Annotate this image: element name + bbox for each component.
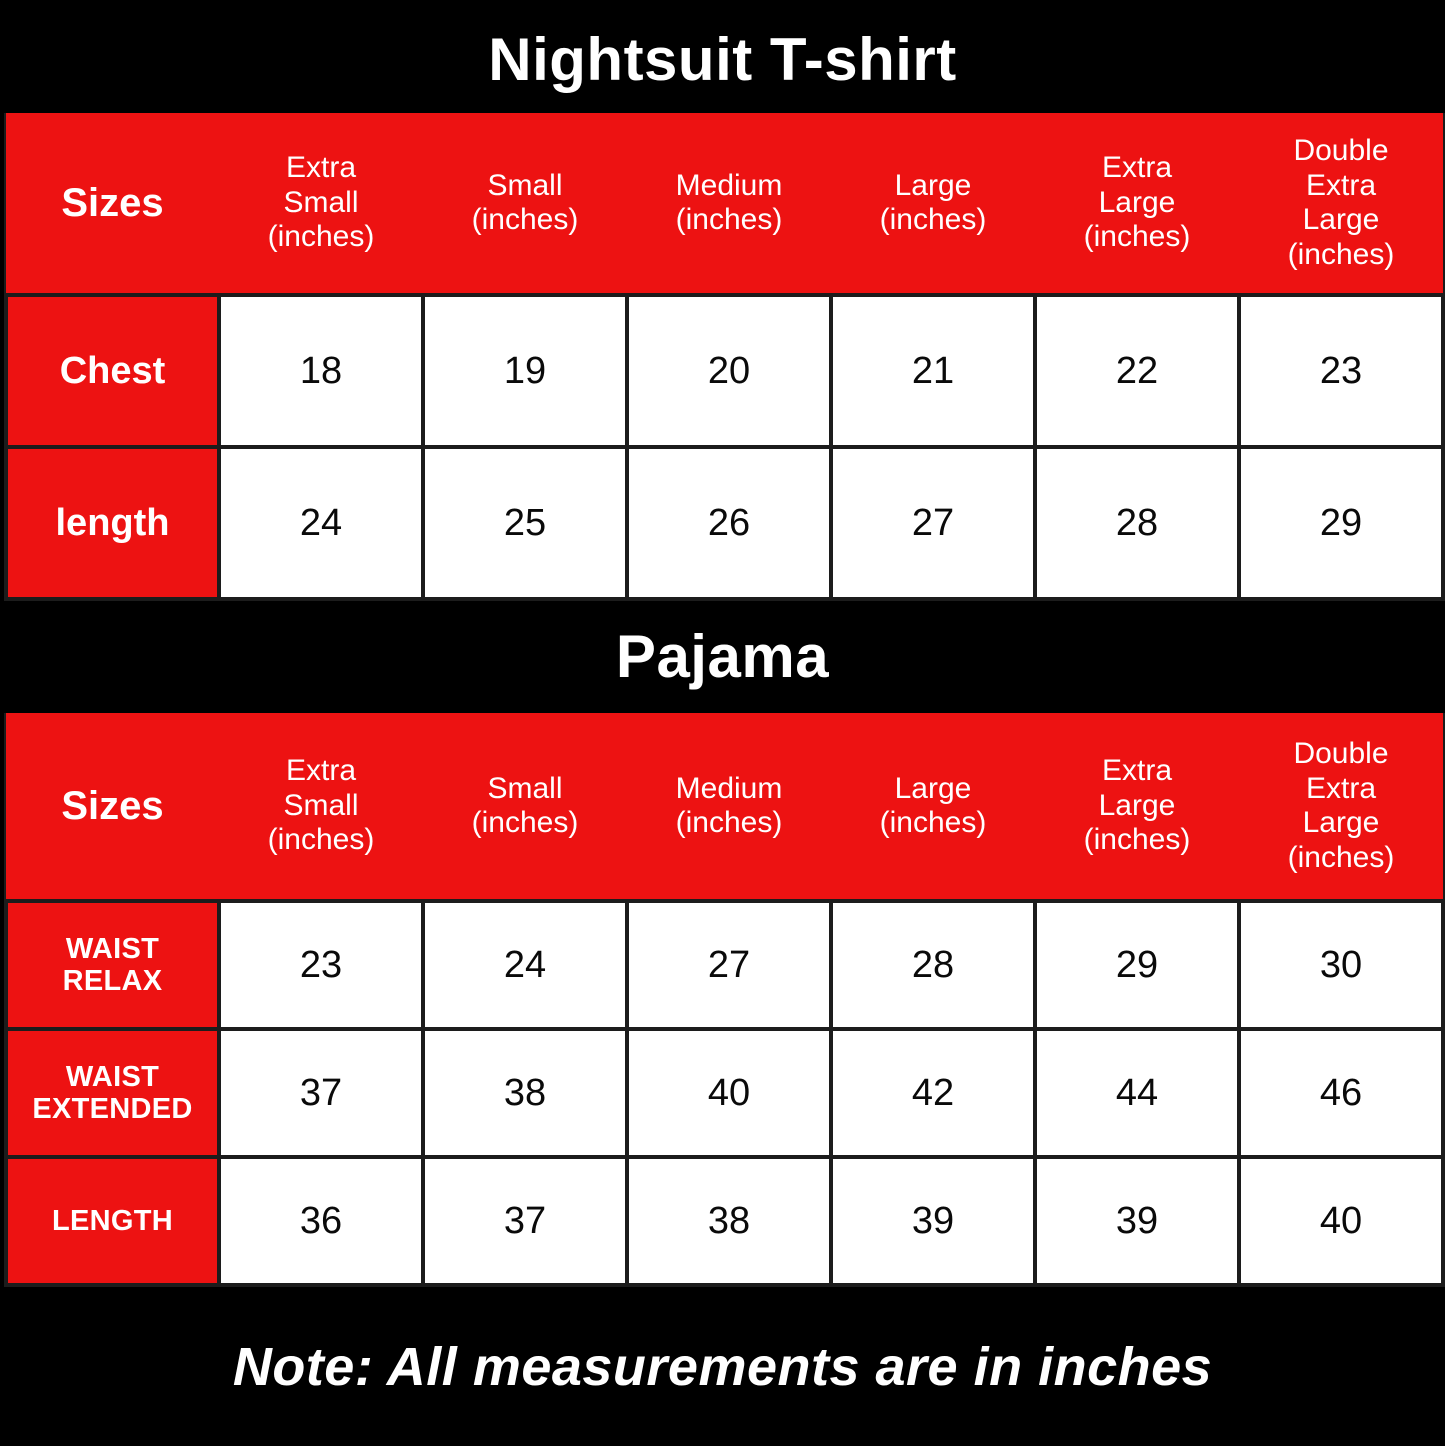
cell-waist-relax-s: 24 [423,901,627,1029]
cell-chest-xs: 18 [219,295,423,447]
cell-length-xs: 36 [219,1157,423,1285]
cell-length-l: 27 [831,447,1035,599]
row-label-length: length [6,447,219,599]
table-header-row: Sizes ExtraSmall(inches) Small(inches) M… [6,113,1443,295]
nightsuit-tshirt-size-table: Sizes ExtraSmall(inches) Small(inches) M… [4,113,1445,601]
cell-length-s: 37 [423,1157,627,1285]
cell-length-xl: 28 [1035,447,1239,599]
table-row: length 24 25 26 27 28 29 [6,447,1443,599]
header-small: Small(inches) [423,713,627,901]
size-chart-page: Nightsuit T-shirt Sizes ExtraSmall(inche… [0,0,1445,1446]
cell-chest-xl: 22 [1035,295,1239,447]
cell-chest-s: 19 [423,295,627,447]
header-extra-small: ExtraSmall(inches) [219,713,423,901]
pajama-size-table: Sizes ExtraSmall(inches) Small(inches) M… [4,713,1445,1287]
cell-waist-relax-xxl: 30 [1239,901,1443,1029]
cell-chest-l: 21 [831,295,1035,447]
header-double-extra-large: DoubleExtraLarge(inches) [1239,113,1443,295]
cell-length-l: 39 [831,1157,1035,1285]
cell-waist-relax-xs: 23 [219,901,423,1029]
cell-waist-extended-s: 38 [423,1029,627,1157]
nightsuit-tshirt-table-wrap: Sizes ExtraSmall(inches) Small(inches) M… [0,113,1445,601]
cell-chest-m: 20 [627,295,831,447]
row-label-waist-relax: WAISTRELAX [6,901,219,1029]
table-row: WAISTRELAX 23 24 27 28 29 30 [6,901,1443,1029]
pajama-table-wrap: Sizes ExtraSmall(inches) Small(inches) M… [0,713,1445,1287]
header-double-extra-large: DoubleExtraLarge(inches) [1239,713,1443,901]
header-sizes-label: Sizes [6,713,219,901]
cell-waist-relax-m: 27 [627,901,831,1029]
cell-length-xs: 24 [219,447,423,599]
header-large: Large(inches) [831,713,1035,901]
table-row: WAISTEXTENDED 37 38 40 42 44 46 [6,1029,1443,1157]
header-small: Small(inches) [423,113,627,295]
section-title-nightsuit-tshirt: Nightsuit T-shirt [0,0,1445,113]
cell-waist-extended-xxl: 46 [1239,1029,1443,1157]
header-sizes-label: Sizes [6,113,219,295]
table-row: Chest 18 19 20 21 22 23 [6,295,1443,447]
table-row: LENGTH 36 37 38 39 39 40 [6,1157,1443,1285]
row-label-waist-extended: WAISTEXTENDED [6,1029,219,1157]
section-title-pajama: Pajama [0,601,1445,713]
cell-chest-xxl: 23 [1239,295,1443,447]
header-large: Large(inches) [831,113,1035,295]
header-extra-small: ExtraSmall(inches) [219,113,423,295]
row-label-length: LENGTH [6,1157,219,1285]
cell-length-m: 26 [627,447,831,599]
cell-waist-extended-xs: 37 [219,1029,423,1157]
cell-waist-relax-l: 28 [831,901,1035,1029]
cell-waist-extended-m: 40 [627,1029,831,1157]
table-header-row: Sizes ExtraSmall(inches) Small(inches) M… [6,713,1443,901]
cell-length-m: 38 [627,1157,831,1285]
cell-length-xxl: 29 [1239,447,1443,599]
cell-length-s: 25 [423,447,627,599]
cell-waist-extended-xl: 44 [1035,1029,1239,1157]
header-medium: Medium(inches) [627,713,831,901]
header-extra-large: ExtraLarge(inches) [1035,113,1239,295]
cell-length-xxl: 40 [1239,1157,1443,1285]
cell-waist-extended-l: 42 [831,1029,1035,1157]
footer-note: Note: All measurements are in inches [0,1287,1445,1446]
cell-waist-relax-xl: 29 [1035,901,1239,1029]
row-label-chest: Chest [6,295,219,447]
header-medium: Medium(inches) [627,113,831,295]
cell-length-xl: 39 [1035,1157,1239,1285]
header-extra-large: ExtraLarge(inches) [1035,713,1239,901]
